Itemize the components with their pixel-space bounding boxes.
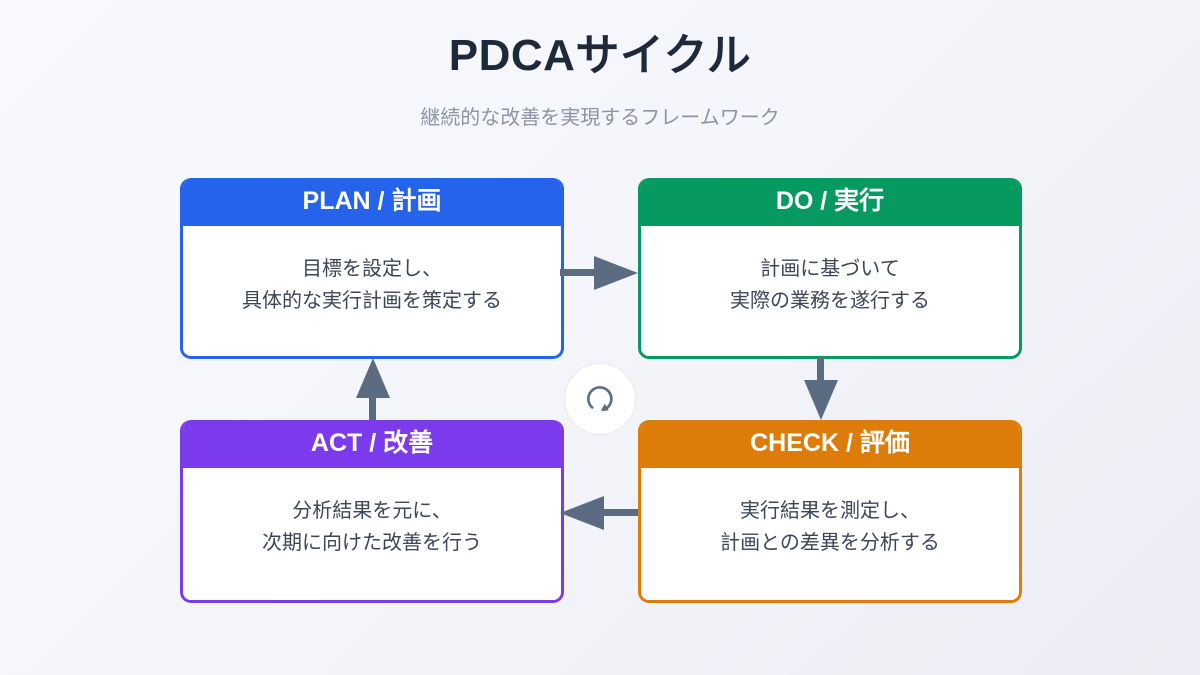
card-check-title: CHECK / 評価 (641, 420, 1019, 468)
card-do-body-line-1: 計画に基づいて (659, 254, 1001, 286)
card-check-body-line-1: 実行結果を測定し、 (659, 496, 1001, 528)
card-act[interactable]: ACT / 改善 分析結果を元に、 次期に向けた改善を行う (180, 420, 564, 603)
arrow-left-icon (560, 492, 638, 539)
card-check-body-line-2: 計画との差異を分析する (659, 528, 1001, 560)
card-plan-body-line-1: 目標を設定し、 (201, 254, 543, 286)
card-plan-header-band: PLAN / 計画 (183, 178, 561, 226)
page-subtitle: 継続的な改善を実現するフレームワーク (0, 105, 1200, 131)
card-act-title: ACT / 改善 (183, 420, 561, 468)
arrow-up-icon (352, 358, 394, 425)
card-act-body-line-1: 分析結果を元に、 (201, 496, 543, 528)
card-do-body-line-2: 実際の業務を遂行する (659, 286, 1001, 318)
card-do-body: 計画に基づいて 実際の業務を遂行する (641, 226, 1019, 356)
card-check-header-band: CHECK / 評価 (641, 420, 1019, 468)
cycle-refresh-icon (580, 379, 620, 419)
card-act-header-band: ACT / 改善 (183, 420, 561, 468)
pdca-diagram: PDCAサイクル 継続的な改善を実現するフレームワーク PLAN / 計画 目標… (0, 0, 1200, 675)
card-do[interactable]: DO / 実行 計画に基づいて 実際の業務を遂行する (638, 178, 1022, 359)
page-title: PDCAサイクル (0, 31, 1200, 82)
arrow-right-icon (560, 252, 638, 299)
card-act-body-line-2: 次期に向けた改善を行う (201, 528, 543, 560)
card-plan-body: 目標を設定し、 具体的な実行計画を策定する (183, 226, 561, 356)
card-act-body: 分析結果を元に、 次期に向けた改善を行う (183, 468, 561, 600)
cycle-badge (564, 363, 636, 435)
card-do-header-band: DO / 実行 (641, 178, 1019, 226)
card-plan-body-line-2: 具体的な実行計画を策定する (201, 286, 543, 318)
card-plan[interactable]: PLAN / 計画 目標を設定し、 具体的な実行計画を策定する (180, 178, 564, 359)
card-check-body: 実行結果を測定し、 計画との差異を分析する (641, 468, 1019, 600)
card-plan-title: PLAN / 計画 (183, 178, 561, 226)
card-do-title: DO / 実行 (641, 178, 1019, 226)
card-check[interactable]: CHECK / 評価 実行結果を測定し、 計画との差異を分析する (638, 420, 1022, 603)
arrow-down-icon (800, 358, 842, 425)
